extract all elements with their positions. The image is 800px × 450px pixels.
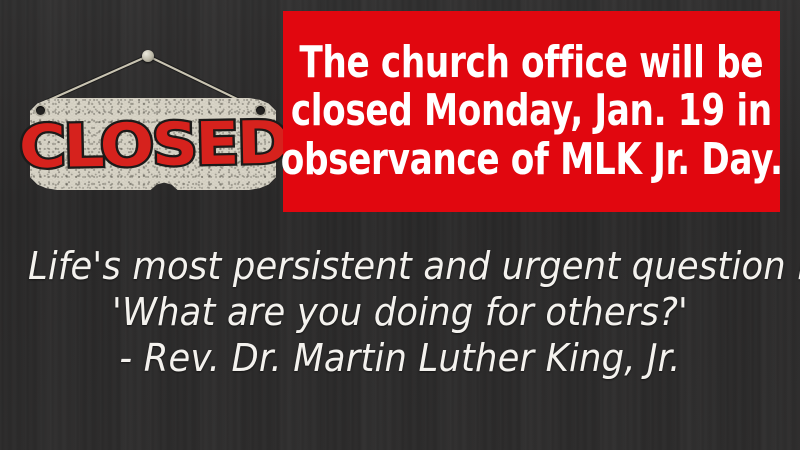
mlk-quote: Life's most persistent and urgent questi… <box>0 243 800 381</box>
quote-attribution: - Rev. Dr. Martin Luther King, Jr. <box>28 335 772 381</box>
sign-plate <box>30 98 276 190</box>
announcement-line-3: observance of MLK Jr. Day. <box>281 137 783 183</box>
quote-line-2: 'What are you doing for others?' <box>28 289 772 335</box>
announcement-line-2: closed Monday, Jan. 19 in <box>291 88 772 134</box>
sign-eyelet-right-icon <box>256 106 265 115</box>
quote-line-1: Life's most persistent and urgent questi… <box>28 243 772 289</box>
closed-sign: CLOSED <box>14 22 286 202</box>
announcement-banner: The church office will be closed Monday,… <box>283 11 780 212</box>
sign-eyelet-left-icon <box>36 106 45 115</box>
mlk-day-closure-poster: CLOSED The church office will be closed … <box>0 0 800 450</box>
nail-head-icon <box>142 50 154 62</box>
announcement-line-1: The church office will be <box>300 40 764 86</box>
